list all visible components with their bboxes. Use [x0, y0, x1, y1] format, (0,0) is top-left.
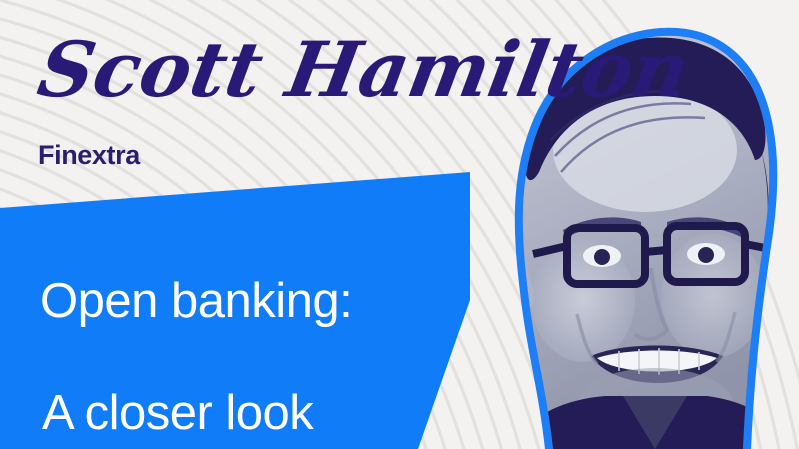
- talk-title-line-2: A closer look: [42, 386, 352, 442]
- speaker-name-text: Scott Hamilton: [32, 26, 696, 115]
- speaker-promo-card: Scott Hamilton Finextra Open banking: A …: [0, 0, 799, 449]
- speaker-organisation: Finextra: [38, 140, 140, 171]
- talk-title: Open banking: A closer look at the US: [40, 218, 352, 449]
- speaker-name: Scott Hamilton: [34, 22, 504, 118]
- talk-title-line-1: Open banking:: [40, 274, 352, 330]
